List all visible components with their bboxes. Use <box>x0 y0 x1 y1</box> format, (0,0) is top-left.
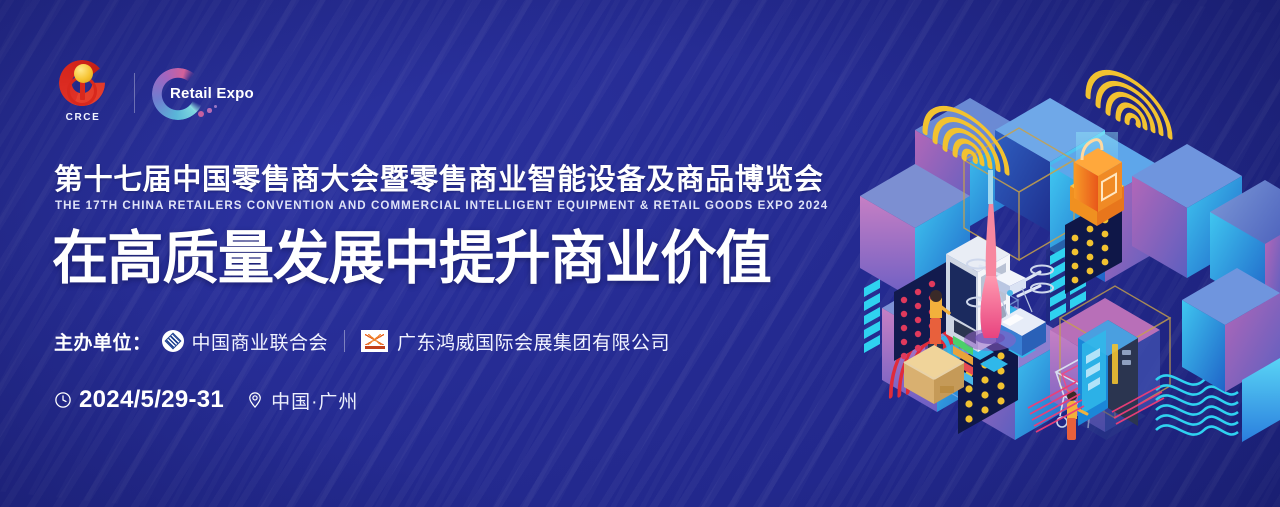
logo-divider <box>134 73 135 113</box>
organizer-1: 中国商业联合会 <box>152 328 329 355</box>
location-pin-icon <box>246 391 264 409</box>
retail-expo-dot-3 <box>214 105 217 108</box>
shopping-bag <box>1070 132 1124 226</box>
retail-expo-text: Retail Expo <box>170 85 254 102</box>
retail-expo-logo: Retail Expo <box>152 64 257 122</box>
organizer-separator <box>344 330 345 352</box>
crce-logo-text: CRCE <box>66 112 101 123</box>
kiosk-screen <box>1067 320 1146 440</box>
expo-banner: CRCE Retail Expo 第十七届中国零售商大会暨零售商业智能设备及商品… <box>0 0 1280 507</box>
retail-expo-dot-2 <box>207 108 212 113</box>
organizers-label: 主办单位： <box>54 328 152 355</box>
cgcc-diamond-icon <box>162 330 184 352</box>
retail-expo-dot-1 <box>198 111 204 117</box>
organizers-row: 主办单位： 中国商业联合会 广东鸿威国际会展集团有限公司 <box>54 326 670 356</box>
banner-content: CRCE Retail Expo 第十七届中国零售商大会暨零售商业智能设备及商品… <box>52 0 872 507</box>
event-title-chinese: 第十七届中国零售商大会暨零售商业智能设备及商品博览会 <box>54 166 824 195</box>
crce-mark-icon <box>57 60 109 110</box>
organizer-2-name: 广东鸿威国际会展集团有限公司 <box>397 328 670 355</box>
event-meta-row: 2024/5/29-31 中国·广州 <box>54 387 358 413</box>
crce-logo: CRCE <box>52 60 114 126</box>
logo-bar: CRCE Retail Expo <box>52 58 257 128</box>
event-location: 中国·广州 <box>271 387 358 414</box>
event-date: 2024/5/29-31 <box>79 386 224 414</box>
event-title-english: THE 17TH CHINA RETAILERS CONVENTION AND … <box>55 200 828 212</box>
isometric-art-svg <box>860 0 1280 507</box>
clock-icon <box>54 391 72 409</box>
grandeur-w-icon <box>361 330 388 352</box>
illustration-panel <box>860 0 1280 507</box>
organizer-2: 广东鸿威国际会展集团有限公司 <box>361 328 670 355</box>
organizer-1-name: 中国商业联合会 <box>192 328 329 355</box>
event-headline: 在高质量发展中提升商业价值 <box>52 224 771 294</box>
